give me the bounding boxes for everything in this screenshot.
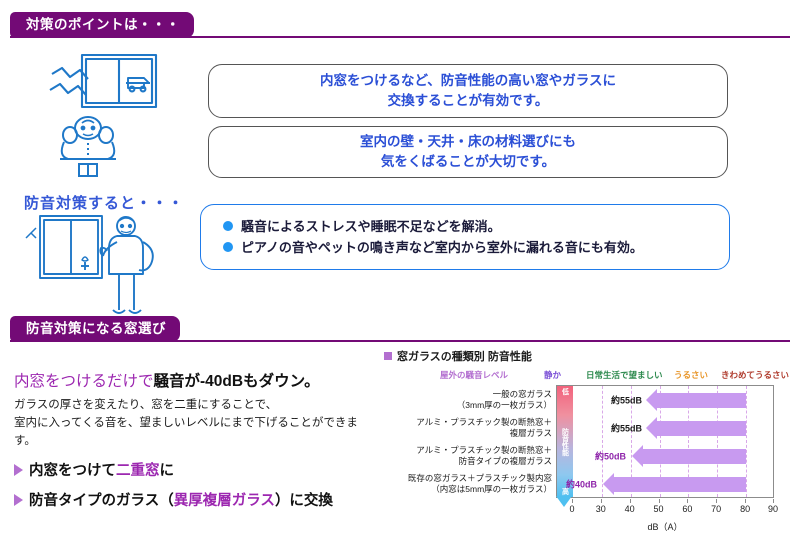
xtick-80 <box>745 499 746 503</box>
row-label-3-line-1: アルミ・プラスチック製の断熱窓＋ <box>384 445 552 456</box>
chart-row-label-1: 一般の窓ガラス （3mm厚の一枚ガラス） <box>384 386 552 414</box>
triangle-bullet-icon <box>14 494 23 506</box>
chart-legend: 屋外の騒音レベル 静か 日常生活で望ましい うるさい きわめてうるさい <box>384 369 794 383</box>
chart-bar-3-arrowhead <box>632 445 643 467</box>
window-with-noise-and-car-illustration <box>44 52 162 110</box>
quiet-window-with-person-illustration <box>18 212 158 318</box>
row-label-2-line-1: アルミ・プラスチック製の断熱窓＋ <box>384 417 552 428</box>
row-label-1-line-1: 一般の窓ガラス <box>384 389 552 400</box>
bullet-dot-icon <box>223 221 233 231</box>
chart-bar-row-3: 約50dB <box>573 442 775 470</box>
xtick-label-70: 70 <box>711 504 721 514</box>
chart-bar-4 <box>614 477 746 492</box>
bullet-dot-icon <box>223 242 233 252</box>
section-banner-2: 防音対策になる窓選び <box>0 316 800 342</box>
point-box-2-line-2: 気をくばることが大切です。 <box>360 152 576 172</box>
point-box-2: 室内の壁・天井・床の材料選びにも 気をくばることが大切です。 <box>208 126 728 178</box>
row-label-1-line-2: （3mm厚の一枚ガラス） <box>384 400 552 411</box>
legend-item-desirable: 日常生活で望ましい <box>586 369 663 381</box>
lead-body-line-2: 室内に入ってくる音を、望ましいレベルにまで下げることができます。 <box>14 415 374 451</box>
lead-item-1-accent: 二重窓 <box>116 463 160 479</box>
xtick-label-30: 30 <box>596 504 606 514</box>
person-covering-ears-illustration <box>52 115 124 177</box>
section-banner-1: 対策のポイントは・・・ <box>0 12 800 38</box>
row-label-3-line-2: 防音タイプの複層ガラス <box>384 456 552 467</box>
xtick-0 <box>572 499 573 503</box>
lead-item-2-accent: 異厚複層ガラス <box>174 493 275 509</box>
xtick-label-60: 60 <box>682 504 692 514</box>
benefit-bullet-2-text: ピアノの音やペットの鳴き声など室内から室外に漏れる音にも有効。 <box>241 238 643 258</box>
chart-bar-row-2: 約55dB <box>573 414 775 442</box>
section-banner-2-label: 防音対策になる窓選び <box>10 316 180 342</box>
chart-plot-wrapper: 一般の窓ガラス （3mm厚の一枚ガラス） アルミ・プラスチック製の断熱窓＋ 複層… <box>384 385 794 531</box>
lead-text-block: 内窓をつけるだけで騒音が-40dBもダウン。 ガラスの厚さを変えたり、窓を二重に… <box>14 372 374 510</box>
chart-title: 窓ガラスの種類別 防音性能 <box>384 348 794 364</box>
chart-axis-group-label: 屋外の騒音レベル <box>440 369 508 381</box>
point-box-2-line-1: 室内の壁・天井・床の材料選びにも <box>360 132 576 152</box>
row-label-4-line-1: 既存の窓ガラス＋プラスチック製内窓 <box>384 473 552 484</box>
lead-item-1-pre: 内窓をつけて <box>29 463 116 479</box>
row-label-4-line-2: （内窓は5mm厚の一枚ガラス） <box>384 484 552 495</box>
lead-headline-part1: 内窓をつけるだけで <box>14 373 154 390</box>
xtick-50 <box>659 499 660 503</box>
chart-bar-2-arrowhead <box>646 417 657 439</box>
chart-plot-area: 低 防音性能 高 約55dB 約55dB <box>556 385 774 498</box>
chart-x-axis: 0 30 40 50 60 70 80 90 dB（A） <box>556 499 774 529</box>
chart-bar-3-value: 約50dB <box>595 450 626 463</box>
chart-bar-row-4: 約40dB <box>573 470 775 498</box>
lead-body-line-1: ガラスの厚さを変えたり、窓を二重にすることで、 <box>14 397 374 415</box>
soundproofing-performance-chart: 窓ガラスの種類別 防音性能 屋外の騒音レベル 静か 日常生活で望ましい うるさい… <box>384 348 794 534</box>
chart-bar-4-value: 約40dB <box>566 478 597 491</box>
xtick-60 <box>687 499 688 503</box>
xtick-label-50: 50 <box>653 504 663 514</box>
point-box-1-line-1: 内窓をつけるなど、防音性能の高い窓やガラスに <box>320 71 616 91</box>
triangle-bullet-icon <box>14 464 23 476</box>
soundproofing-result-label: 防音対策すると・・・ <box>24 192 184 213</box>
square-bullet-icon <box>384 352 392 360</box>
chart-bar-1-arrowhead <box>646 389 657 411</box>
lead-item-2-pre: 防音タイプのガラス（ <box>29 493 174 509</box>
chart-row-label-4: 既存の窓ガラス＋プラスチック製内窓 （内窓は5mm厚の一枚ガラス） <box>384 470 552 498</box>
legend-item-quiet: 静か <box>544 369 561 381</box>
performance-scale-low: 低 <box>562 388 569 395</box>
section-banner-1-label: 対策のポイントは・・・ <box>10 12 194 38</box>
benefit-bullet-1-text: 騒音によるストレスや睡眠不足などを解消。 <box>241 217 501 237</box>
xtick-90 <box>773 499 774 503</box>
benefit-box: 騒音によるストレスや睡眠不足などを解消。 ピアノの音やペットの鳴き声など室内から… <box>200 204 730 270</box>
benefit-bullet-1: 騒音によるストレスや睡眠不足などを解消。 <box>223 217 729 237</box>
point-box-1-line-2: 交換することが有効です。 <box>320 91 616 111</box>
chart-bar-3 <box>643 449 746 464</box>
chart-row-label-2: アルミ・プラスチック製の断熱窓＋ 複層ガラス <box>384 414 552 442</box>
chart-row-label-3: アルミ・プラスチック製の断熱窓＋ 防音タイプの複層ガラス <box>384 442 552 470</box>
chart-bar-2 <box>657 421 746 436</box>
lead-item-2: 防音タイプのガラス（異厚複層ガラス）に交換 <box>14 489 374 510</box>
lead-headline: 内窓をつけるだけで騒音が-40dBもダウン。 <box>14 372 374 393</box>
performance-scale-middle: 防音性能 <box>562 428 569 456</box>
chart-row-labels: 一般の窓ガラス （3mm厚の一枚ガラス） アルミ・プラスチック製の断熱窓＋ 複層… <box>384 386 552 498</box>
benefit-bullet-2: ピアノの音やペットの鳴き声など室内から室外に漏れる音にも有効。 <box>223 238 729 258</box>
lead-item-1: 内窓をつけて二重窓に <box>14 459 374 480</box>
lead-item-1-post: に <box>160 463 175 479</box>
xtick-30 <box>601 499 602 503</box>
xtick-40 <box>630 499 631 503</box>
chart-bar-1-value: 約55dB <box>611 394 642 407</box>
lead-headline-part2: 騒音が-40dBもダウン。 <box>154 373 320 390</box>
legend-item-very-noisy: きわめてうるさい <box>721 369 789 381</box>
row-label-2-line-2: 複層ガラス <box>384 428 552 439</box>
lead-item-2-post: ）に交換 <box>275 493 333 509</box>
xtick-label-40: 40 <box>625 504 635 514</box>
chart-bar-1 <box>657 393 746 408</box>
chart-x-axis-title: dB（A） <box>556 520 774 533</box>
legend-item-noisy: うるさい <box>674 369 708 381</box>
chart-bar-4-arrowhead <box>603 473 614 495</box>
chart-title-text: 窓ガラスの種類別 防音性能 <box>397 348 532 364</box>
point-box-1: 内窓をつけるなど、防音性能の高い窓やガラスに 交換することが有効です。 <box>208 64 728 118</box>
xtick-label-0: 0 <box>569 504 574 514</box>
chart-bar-row-1: 約55dB <box>573 386 775 414</box>
chart-bar-2-value: 約55dB <box>611 422 642 435</box>
xtick-label-80: 80 <box>740 504 750 514</box>
xtick-70 <box>716 499 717 503</box>
xtick-label-90: 90 <box>768 504 778 514</box>
